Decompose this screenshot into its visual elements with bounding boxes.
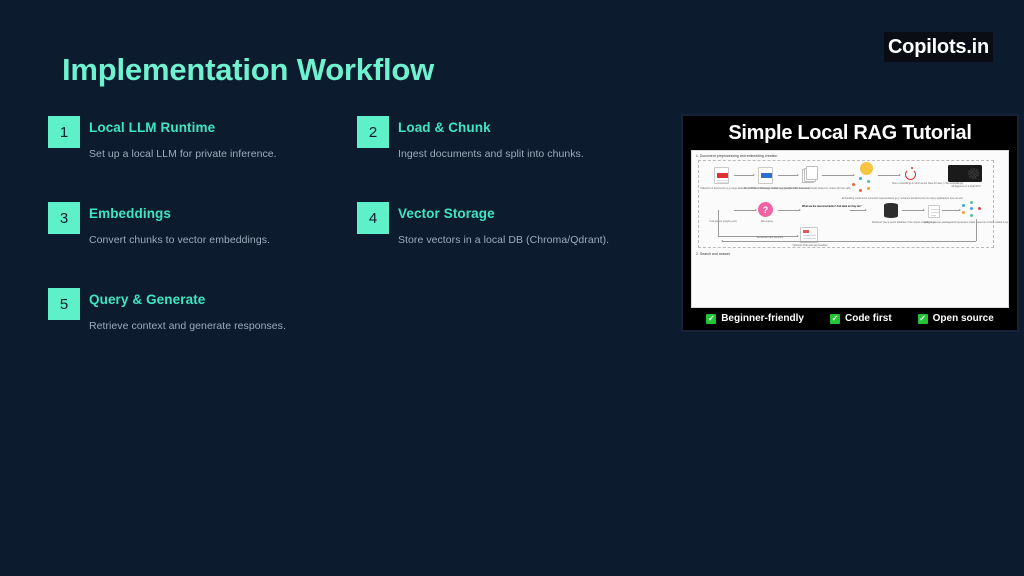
feature-badge-beginner-friendly: ✓ Beginner-friendly	[706, 313, 804, 324]
step-number-badge: 5	[48, 288, 80, 320]
emoji-icon	[860, 162, 873, 175]
step-item-3[interactable]: 3 Embeddings Convert chunks to vector em…	[48, 202, 339, 254]
step-number: 2	[369, 125, 377, 140]
thumbnail-inner: Simple Local RAG Tutorial 1. Document pr…	[683, 116, 1017, 330]
feature-badge-label: Open source	[933, 313, 994, 324]
arrow-icon	[722, 241, 976, 242]
step-item-5[interactable]: 5 Query & Generate Retrieve context and …	[48, 288, 339, 340]
step-body: Embeddings Convert chunks to vector embe…	[48, 202, 339, 245]
rag-architecture-diagram: 1. Document preprocessing and embedding …	[691, 150, 1009, 308]
thumbnail-title: Simple Local RAG Tutorial	[691, 122, 1009, 145]
pdf-document-icon	[714, 167, 729, 184]
step-description: Ingest documents and split into chunks.	[398, 135, 648, 160]
step-column-left: 1 Local LLM Runtime Set up a local LLM f…	[48, 116, 339, 374]
diagram-section-1-label: 1. Document preprocessing and embedding …	[696, 154, 777, 158]
passages-document-icon	[928, 205, 940, 218]
diagram-caption-generate: Generation and resource	[740, 236, 800, 239]
tutorial-thumbnail-card[interactable]: Simple Local RAG Tutorial 1. Document pr…	[681, 114, 1019, 332]
check-icon: ✓	[830, 314, 840, 324]
step-row: 1 Local LLM Runtime Set up a local LLM f…	[48, 116, 648, 374]
gpu-card-icon	[948, 165, 982, 182]
step-title: Local LLM Runtime	[89, 116, 339, 135]
step-description: Store vectors in a local DB (Chroma/Qdra…	[398, 221, 648, 246]
step-title: Vector Storage	[398, 202, 648, 221]
step-number-badge: 4	[357, 202, 389, 234]
preprocessed-document-icon	[758, 167, 773, 184]
arrow-icon	[902, 210, 924, 211]
page-title: Implementation Workflow	[62, 53, 434, 87]
connector-line	[976, 219, 977, 241]
diagram-caption-gpu: All happens on a local GPU	[944, 185, 988, 188]
check-icon: ✓	[706, 314, 716, 324]
diagram-caption-torch: Store embeddings in torch.tensor Save fo…	[892, 182, 934, 185]
brand-badge: Copilots.in	[884, 32, 993, 62]
step-number: 1	[60, 125, 68, 140]
feature-badge-label: Beginner-friendly	[721, 313, 804, 324]
step-number-badge: 3	[48, 202, 80, 234]
step-number: 3	[60, 211, 68, 226]
diagram-caption-preprocess: Preprocessed document chunks (e.g. group…	[744, 187, 788, 190]
step-description: Convert chunks to vector embeddings.	[89, 221, 339, 246]
brand-name: Copilots.in	[888, 37, 989, 57]
step-item-1[interactable]: 1 Local LLM Runtime Set up a local LLM f…	[48, 116, 339, 168]
check-icon: ✓	[918, 314, 928, 324]
diagram-section-2-label: 2. Search and answer	[696, 252, 730, 256]
step-body: Vector Storage Store vectors in a local …	[357, 202, 648, 245]
feature-badge-label: Code first	[845, 313, 892, 324]
arrow-icon	[878, 175, 900, 176]
step-item-4[interactable]: 4 Vector Storage Store vectors in a loca…	[357, 202, 648, 254]
step-item-2[interactable]: 2 Load & Chunk Ingest documents and spli…	[357, 116, 648, 168]
steps-list: 1 Local LLM Runtime Set up a local LLM f…	[48, 116, 648, 374]
arrow-icon	[822, 175, 854, 176]
arrow-icon	[942, 210, 960, 211]
feature-badge-code-first: ✓ Code first	[830, 313, 892, 324]
document-chunks-icon	[802, 166, 818, 183]
diagram-caption-collection: Collection of documents (e.g. large data…	[700, 187, 744, 190]
step-body: Local LLM Runtime Set up a local LLM for…	[48, 116, 339, 159]
step-body: Query & Generate Retrieve context and ge…	[48, 288, 339, 331]
arrow-icon	[778, 175, 798, 176]
llm-network-icon	[962, 201, 982, 219]
feature-badges: ✓ Beginner-friendly ✓ Code first ✓ Open …	[691, 308, 1009, 326]
vector-database-icon	[884, 203, 898, 218]
pytorch-logo-icon	[904, 167, 916, 180]
step-description: Set up a local LLM for private inference…	[89, 135, 339, 160]
step-title: Embeddings	[89, 202, 339, 221]
step-number-badge: 2	[357, 116, 389, 148]
diagram-caption-db: Retrieval: Use a vector database if the …	[872, 221, 914, 224]
diagram-caption-llm: LLM generates output based on context re…	[952, 221, 996, 224]
step-description: Retrieve context and generate responses.	[89, 307, 339, 332]
step-number-badge: 1	[48, 116, 80, 148]
step-title: Query & Generate	[89, 288, 339, 307]
step-number: 4	[369, 211, 377, 226]
step-column-right: 2 Load & Chunk Ingest documents and spli…	[357, 116, 648, 374]
step-title: Load & Chunk	[398, 116, 648, 135]
step-number: 5	[60, 297, 68, 312]
arrow-icon	[734, 175, 754, 176]
step-body: Load & Chunk Ingest documents and split …	[357, 116, 648, 159]
diagram-caption-chunks: Smaller document chunks based on context…	[790, 187, 834, 190]
feature-badge-open-source: ✓ Open source	[918, 313, 994, 324]
